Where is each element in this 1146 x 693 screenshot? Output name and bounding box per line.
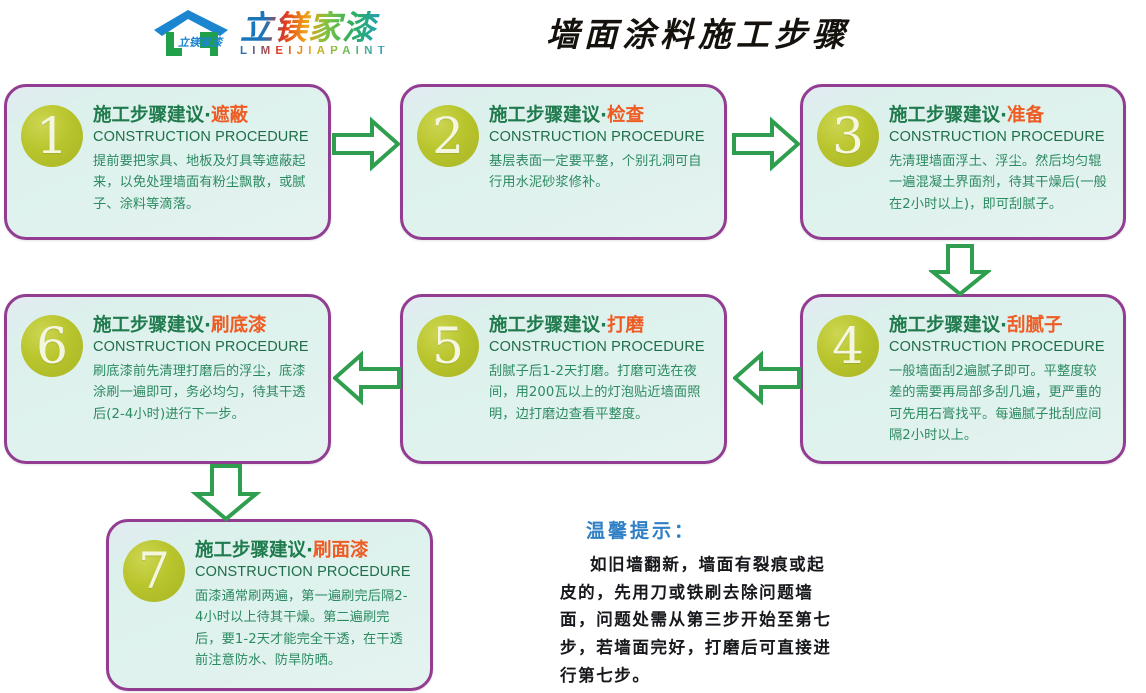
infographic-page: 立镁家漆 立镁家漆 LIMEIJIAPAINT 墙面涂料施工步骤 1 施工步骤建… [0,0,1146,693]
step-title-accent: 遮蔽 [211,105,248,126]
step-card-3: 3 施工步骤建议·准备 CONSTRUCTION PROCEDURE 先清理墙面… [800,84,1126,240]
step-title: 施工步骤建议·打磨 [489,315,710,337]
step-card-7: 7 施工步骤建议·刷面漆 CONSTRUCTION PROCEDURE 面漆通常… [106,519,433,691]
step-title: 施工步骤建议·准备 [889,105,1109,127]
step-card-4: 4 施工步骤建议·刮腻子 CONSTRUCTION PROCEDURE 一般墙面… [800,294,1126,464]
step-subtitle: CONSTRUCTION PROCEDURE [195,563,416,581]
step-title: 施工步骤建议·刷面漆 [195,540,416,562]
step-title: 施工步骤建议·刮腻子 [889,315,1109,337]
tips-section: 温馨提示： 如旧墙翻新，墙面有裂痕或起皮的，先用刀或铁刷去除问题墙面，问题处需从… [560,516,840,690]
house-roof-logo-icon: 立镁家漆 [148,8,234,60]
tips-heading: 温馨提示： [586,516,840,543]
step-description: 刷底漆前先清理打磨后的浮尘，底漆涂刷一遍即可，务必均匀，待其干透后(2-4小时)… [93,361,314,425]
step-description: 一般墙面刮2遍腻子即可。平整度较差的需要再局部多刮几遍，更严重的可先用石膏找平。… [889,361,1109,447]
step-description: 基层表面一定要平整，个别孔洞可自行用水泥砂浆修补。 [489,151,710,194]
step-number-badge: 4 [817,315,879,377]
step-title: 施工步骤建议·遮蔽 [93,105,314,127]
step-card-5: 5 施工步骤建议·打磨 CONSTRUCTION PROCEDURE 刮腻子后1… [400,294,727,464]
svg-text:立镁家漆: 立镁家漆 [178,36,224,49]
tips-body-text: 如旧墙翻新，墙面有裂痕或起皮的，先用刀或铁刷去除问题墙面，问题处需从第三步开始至… [560,551,840,690]
arrow-down-icon [190,464,262,522]
step-title-accent: 打磨 [607,315,644,336]
step-title-accent: 检查 [607,105,644,126]
step-subtitle: CONSTRUCTION PROCEDURE [93,128,314,146]
step-title-main: 施工步骤建议· [889,315,1007,336]
step-card-6: 6 施工步骤建议·刷底漆 CONSTRUCTION PROCEDURE 刷底漆前… [4,294,331,464]
step-title-main: 施工步骤建议· [93,105,211,126]
step-subtitle: CONSTRUCTION PROCEDURE [489,128,710,146]
step-description: 提前要把家具、地板及灯具等遮蔽起来，以免处理墙面有粉尘飘散，或腻子、涂料等滴落。 [93,151,314,215]
step-subtitle: CONSTRUCTION PROCEDURE [889,338,1109,356]
step-title-main: 施工步骤建议· [489,105,607,126]
header: 立镁家漆 立镁家漆 LIMEIJIAPAINT 墙面涂料施工步骤 [0,0,1146,72]
step-subtitle: CONSTRUCTION PROCEDURE [889,128,1109,146]
brand-wordmark: 立镁家漆 LIMEIJIAPAINT [240,8,390,60]
step-description: 面漆通常刷两遍，第一遍刷完后隔2-4小时以上待其干燥。第二遍刷完后，要1-2天才… [195,586,416,672]
step-title-accent: 刷面漆 [313,540,369,561]
step-title-accent: 刷底漆 [211,315,267,336]
arrow-down-icon [929,244,991,296]
step-title-accent: 准备 [1007,105,1044,126]
step-number-badge: 5 [417,315,479,377]
step-title-main: 施工步骤建议· [93,315,211,336]
arrow-left-icon [733,348,801,408]
step-description: 刮腻子后1-2天打磨。打磨可选在夜间，用200瓦以上的灯泡贴近墙面照明，边打磨边… [489,361,710,425]
step-number-badge: 6 [21,315,83,377]
step-card-2: 2 施工步骤建议·检查 CONSTRUCTION PROCEDURE 基层表面一… [400,84,727,240]
step-title: 施工步骤建议·刷底漆 [93,315,314,337]
brand-name-en: LIMEIJIAPAINT [240,46,390,58]
step-number-badge: 7 [123,540,185,602]
page-title: 墙面涂料施工步骤 [546,8,850,56]
step-subtitle: CONSTRUCTION PROCEDURE [93,338,314,356]
arrow-right-icon [332,114,400,174]
step-title-main: 施工步骤建议· [195,540,313,561]
arrow-right-icon [732,114,800,174]
brand-logo: 立镁家漆 立镁家漆 LIMEIJIAPAINT [148,6,390,62]
step-subtitle: CONSTRUCTION PROCEDURE [489,338,710,356]
arrow-left-icon [333,348,401,408]
step-title-main: 施工步骤建议· [889,105,1007,126]
step-card-1: 1 施工步骤建议·遮蔽 CONSTRUCTION PROCEDURE 提前要把家… [4,84,331,240]
step-title-main: 施工步骤建议· [489,315,607,336]
step-title-accent: 刮腻子 [1007,315,1063,336]
step-number-badge: 3 [817,105,879,167]
step-description: 先清理墙面浮土、浮尘。然后均匀辊一遍混凝土界面剂，待其干燥后(一般在2小时以上)… [889,151,1109,215]
step-number-badge: 1 [21,105,83,167]
brand-name-cn: 立镁家漆 [240,11,390,45]
step-number-badge: 2 [417,105,479,167]
step-title: 施工步骤建议·检查 [489,105,710,127]
